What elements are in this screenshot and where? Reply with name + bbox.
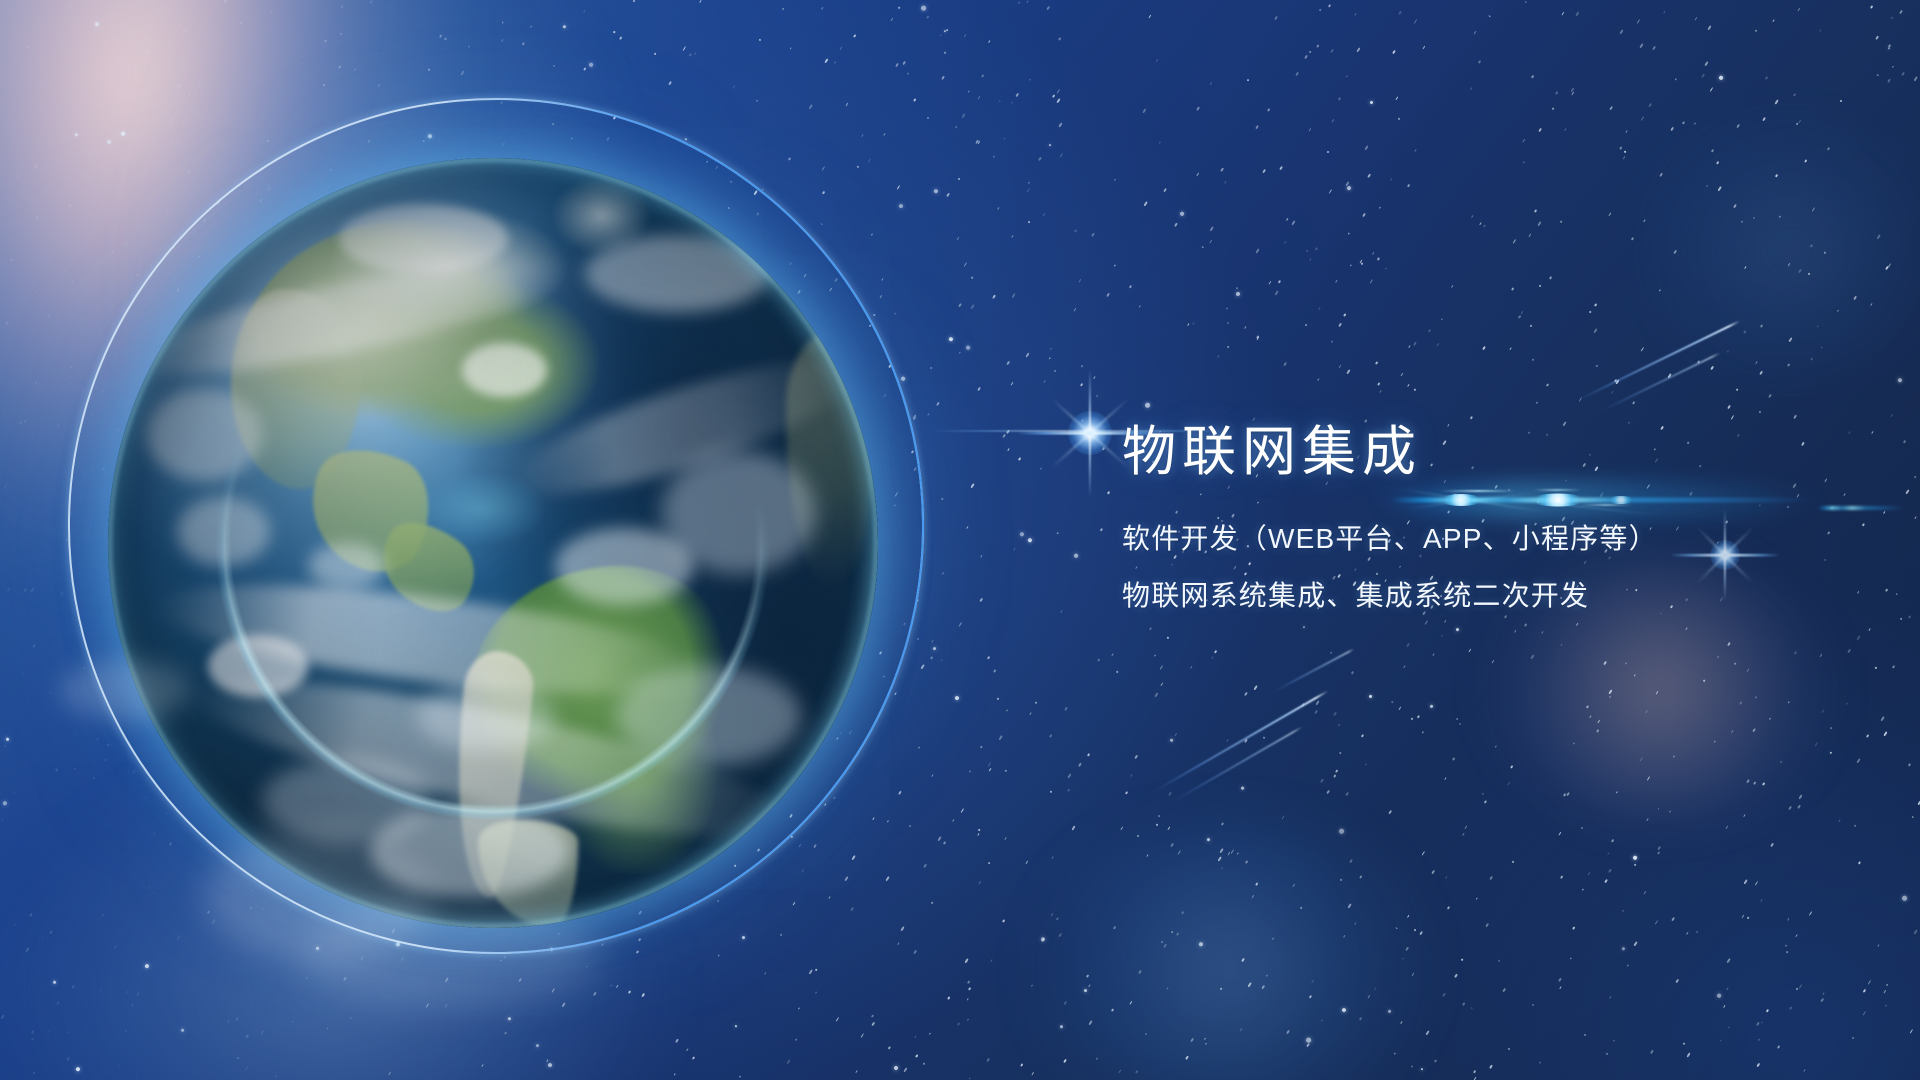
subtitle-line-2: 物联网系统集成、集成系统二次开发 [1122, 580, 1862, 611]
subtitle-line-1: 软件开发（WEB平台、APP、小程序等） [1122, 523, 1862, 554]
hero-banner: 物联网集成 软件开发（WEB平台、APP、小程序等） 物联网系统集成、集成系统二… [0, 0, 1920, 1080]
page-title: 物联网集成 [1122, 424, 1862, 481]
hero-copy: 物联网集成 软件开发（WEB平台、APP、小程序等） 物联网系统集成、集成系统二… [1122, 424, 1862, 611]
